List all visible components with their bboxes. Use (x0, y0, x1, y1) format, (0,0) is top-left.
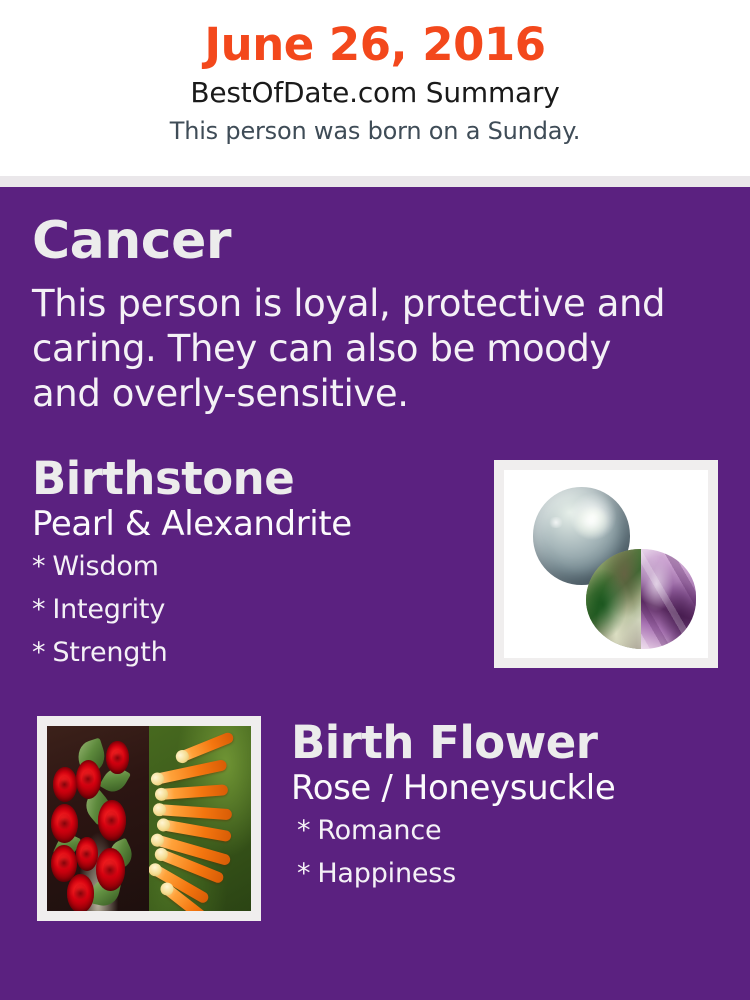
bullet-asterisk-icon: * (32, 551, 45, 582)
bullet-asterisk-icon: * (297, 815, 310, 846)
red-roses-photo-half (47, 726, 149, 911)
zodiac-description: This person is loyal, protective and car… (32, 281, 672, 416)
zodiac-section: Cancer This person is loyal, protective … (0, 187, 750, 416)
honeysuckle-bud (156, 817, 171, 832)
born-day-note: This person was born on a Sunday. (0, 119, 750, 143)
birth-flower-section: Birth Flower Rose / Honeysuckle *Romance… (0, 716, 750, 921)
honeysuckle-tube (178, 731, 235, 763)
honeysuckle-tube (157, 804, 233, 820)
summary-panel: Cancer This person is loyal, protective … (0, 187, 750, 1000)
bullet-asterisk-icon: * (32, 594, 45, 625)
birthstone-trait-list: *Wisdom *Integrity *Strength (32, 553, 352, 666)
birth-flower-trait-list: *Romance *Happiness (291, 817, 615, 887)
honeysuckle-bud (149, 832, 165, 848)
site-summary-subtitle: BestOfDate.com Summary (0, 79, 750, 107)
bullet-asterisk-icon: * (32, 637, 45, 668)
birth-flower-image-frame (37, 716, 261, 921)
birthstone-text-block: Birthstone Pearl & Alexandrite *Wisdom *… (32, 454, 352, 682)
honeysuckle-bud (149, 861, 164, 879)
birth-flower-title: Birth Flower (291, 720, 615, 765)
honeysuckle-bud (150, 772, 165, 787)
list-item: *Romance (297, 817, 615, 844)
birth-flower-text-block: Birth Flower Rose / Honeysuckle *Romance… (291, 716, 615, 903)
honeysuckle-tube (159, 784, 229, 800)
rose-bloom (67, 874, 94, 911)
honeysuckle-bud (155, 788, 169, 802)
birth-flower-trait-label: Happiness (317, 858, 456, 889)
alexandrite-rough-half (586, 549, 641, 649)
alexandrite-gem-icon (586, 549, 696, 649)
rose-bloom (76, 837, 98, 870)
birthstone-photo (504, 470, 708, 658)
list-item: *Wisdom (32, 553, 352, 580)
header-divider (0, 176, 750, 187)
birth-flower-names: Rose / Honeysuckle (291, 771, 615, 805)
birthstone-trait-label: Wisdom (52, 551, 158, 582)
orange-honeysuckle-photo-half (149, 726, 251, 911)
list-item: *Happiness (297, 860, 615, 887)
page-header: June 26, 2016 BestOfDate.com Summary Thi… (0, 0, 750, 176)
pearl-highlight (548, 517, 564, 529)
birthstone-image-frame (494, 460, 718, 668)
birthstone-trait-label: Strength (52, 637, 167, 668)
rose-bloom (96, 848, 125, 891)
list-item: *Integrity (32, 596, 352, 623)
birthstone-trait-label: Integrity (52, 594, 165, 625)
rose-bloom (51, 804, 78, 843)
honeysuckle-bud (153, 803, 167, 817)
birth-flower-trait-label: Romance (317, 815, 441, 846)
bullet-asterisk-icon: * (297, 858, 310, 889)
list-item: *Strength (32, 639, 352, 666)
zodiac-sign-name: Cancer (32, 215, 718, 267)
honeysuckle-bud (173, 748, 190, 765)
birth-flower-photo (47, 726, 251, 911)
birthstone-title: Birthstone (32, 456, 352, 501)
rose-bloom (98, 800, 126, 841)
birthstone-names: Pearl & Alexandrite (32, 507, 352, 541)
page-title: June 26, 2016 (0, 22, 750, 67)
rose-bloom (106, 741, 128, 774)
rose-bloom (53, 767, 76, 802)
rose-bloom (76, 760, 102, 799)
honeysuckle-tube (154, 759, 228, 785)
alexandrite-faceted-half (641, 549, 696, 649)
birthstone-section: Birthstone Pearl & Alexandrite *Wisdom *… (0, 454, 750, 682)
